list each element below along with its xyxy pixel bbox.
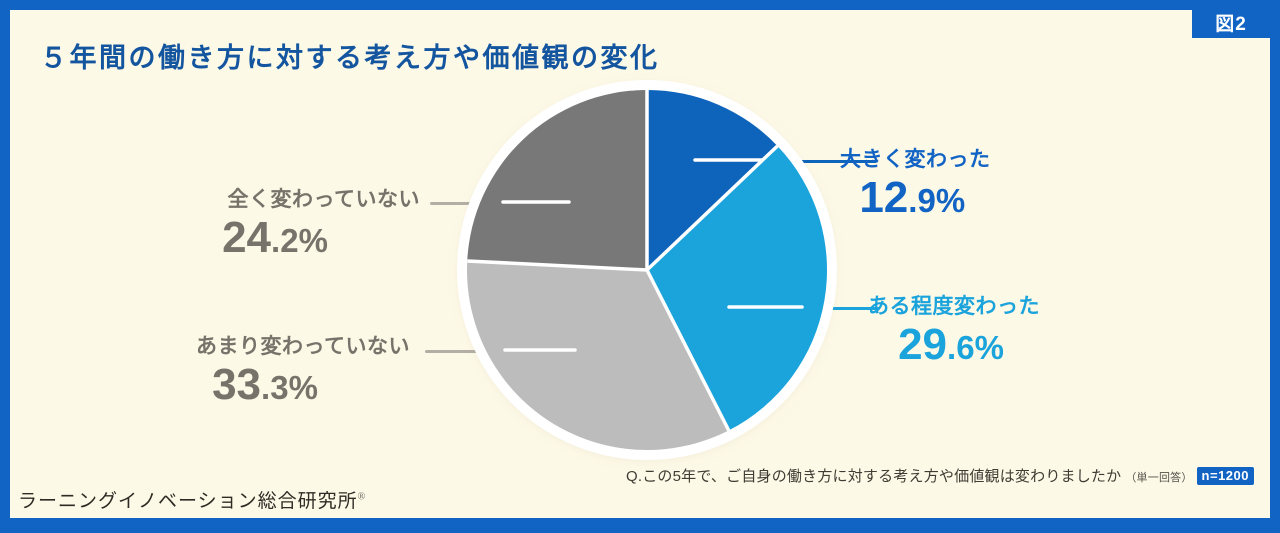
- callout-label-slice-2: ある程度変わった 29.6%: [868, 295, 1040, 368]
- survey-question-note: （単一回答）: [1125, 469, 1192, 485]
- callout-label-slice-1: 大きく変わった 12.9%: [840, 148, 991, 221]
- callout-label-value-4: 24.2%: [120, 215, 420, 261]
- value-int-1: 12: [859, 173, 908, 222]
- value-dec-1: .9: [908, 182, 936, 219]
- callout-label-name-3: あまり変わっていない: [110, 335, 410, 358]
- brand-name: ラーニングイノベーション総合研究所: [18, 491, 358, 512]
- callout-label-name-1: 大きく変わった: [840, 148, 991, 171]
- callout-label-value-1: 12.9%: [840, 175, 991, 221]
- value-pct-4: %: [299, 222, 328, 259]
- sample-size-badge: n=1200: [1197, 467, 1254, 485]
- callout-label-slice-4: 全く変わっていない 24.2%: [120, 188, 420, 261]
- figure-frame: 図2 ５年間の働き方に対する考え方や価値観の変化: [0, 0, 1280, 533]
- value-pct-1: %: [936, 182, 965, 219]
- registered-mark-icon: ®: [358, 492, 367, 503]
- value-pct-3: %: [289, 369, 318, 406]
- callout-label-value-3: 33.3%: [110, 362, 410, 408]
- value-dec-4: .2: [271, 222, 299, 259]
- value-int-4: 24: [222, 213, 271, 262]
- value-int-3: 33: [212, 360, 261, 409]
- callout-label-slice-3: あまり変わっていない 33.3%: [110, 335, 410, 408]
- pie-chart-plot-area: 大きく変わった 12.9% ある程度変わった 29.6% あまり変わっていない …: [10, 10, 1270, 518]
- callout-label-name-4: 全く変わっていない: [120, 188, 420, 211]
- value-dec-3: .3: [261, 369, 289, 406]
- callout-label-value-2: 29.6%: [868, 322, 1040, 368]
- pie-slices-svg: [457, 80, 837, 460]
- callout-label-name-2: ある程度変わった: [868, 295, 1040, 318]
- brand-logo-text: ラーニングイノベーション総合研究所®: [18, 486, 366, 513]
- figure-canvas: 図2 ５年間の働き方に対する考え方や価値観の変化: [10, 10, 1270, 518]
- pie-chart: [457, 80, 837, 460]
- value-dec-2: .6: [947, 329, 975, 366]
- value-pct-2: %: [975, 329, 1004, 366]
- survey-question: Q.この5年で、ご自身の働き方に対する考え方や価値観は変わりましたか （単一回答…: [626, 465, 1254, 486]
- pie-slice-全く変わっていない: [467, 90, 647, 270]
- survey-question-text: Q.この5年で、ご自身の働き方に対する考え方や価値観は変わりましたか: [626, 465, 1121, 486]
- value-int-2: 29: [898, 320, 947, 369]
